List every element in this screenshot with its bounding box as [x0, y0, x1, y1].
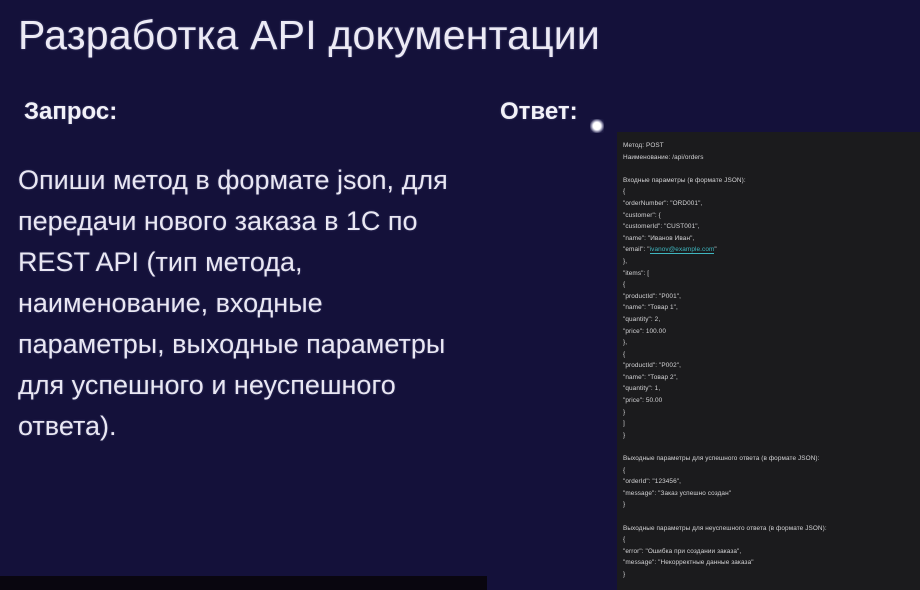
code-line: { — [623, 465, 914, 477]
code-line: } — [623, 569, 914, 581]
slide-canvas: Разработка API документации Запрос: Отве… — [0, 0, 920, 590]
code-line: { — [623, 534, 914, 546]
code-line: "quantity": 1, — [623, 383, 914, 395]
code-line: { — [623, 279, 914, 291]
code-line: Выходные параметры для неуспешного ответ… — [623, 523, 914, 535]
code-line: } — [623, 407, 914, 419]
code-line: Наименование: /api/orders — [623, 152, 914, 164]
code-line: "name": "Товар 1", — [623, 302, 914, 314]
code-line: "name": "Товар 2", — [623, 372, 914, 384]
code-line: } — [623, 499, 914, 511]
code-response-panel: Метод: POSTНаименование: /api/orders Вхо… — [617, 132, 920, 590]
email-link[interactable]: ivanov@example.com — [650, 246, 715, 254]
page-title: Разработка API документации — [18, 12, 600, 59]
code-line: "price": 100.00 — [623, 326, 914, 338]
code-line: }, — [623, 256, 914, 268]
code-line: "price": 50.00 — [623, 395, 914, 407]
code-line: Метод: POST — [623, 140, 914, 152]
code-line — [623, 441, 914, 453]
request-column-heading: Запрос: — [24, 98, 117, 126]
code-line: ] — [623, 418, 914, 430]
code-line: "quantity": 2, — [623, 314, 914, 326]
bottom-bar — [0, 576, 487, 590]
code-line: "productId": "P001", — [623, 291, 914, 303]
white-square-marker-icon — [590, 119, 604, 133]
code-line: "email": "ivanov@example.com" — [623, 244, 914, 256]
code-line: "customer": { — [623, 210, 914, 222]
code-line: "message": "Заказ успешно создан" — [623, 488, 914, 500]
code-line: Выходные параметры для успешного ответа … — [623, 453, 914, 465]
code-line — [623, 511, 914, 523]
code-line: Входные параметры (в формате JSON): — [623, 175, 914, 187]
code-line: "message": "Некорректные данные заказа" — [623, 557, 914, 569]
code-line: "name": "Иванов Иван", — [623, 233, 914, 245]
code-line: } — [623, 430, 914, 442]
code-line: "error": "Ошибка при создании заказа", — [623, 546, 914, 558]
code-line: "customerId": "CUST001", — [623, 221, 914, 233]
code-line — [623, 163, 914, 175]
answer-column-heading: Ответ: — [500, 98, 578, 126]
code-line: { — [623, 186, 914, 198]
code-line: { — [623, 349, 914, 361]
code-line: "orderNumber": "ORD001", — [623, 198, 914, 210]
code-line: }, — [623, 337, 914, 349]
code-line: "orderId": "123456", — [623, 476, 914, 488]
code-line: "productId": "P002", — [623, 360, 914, 372]
prompt-text: Опиши метод в формате json, для передачи… — [18, 160, 468, 447]
code-line: "items": [ — [623, 268, 914, 280]
